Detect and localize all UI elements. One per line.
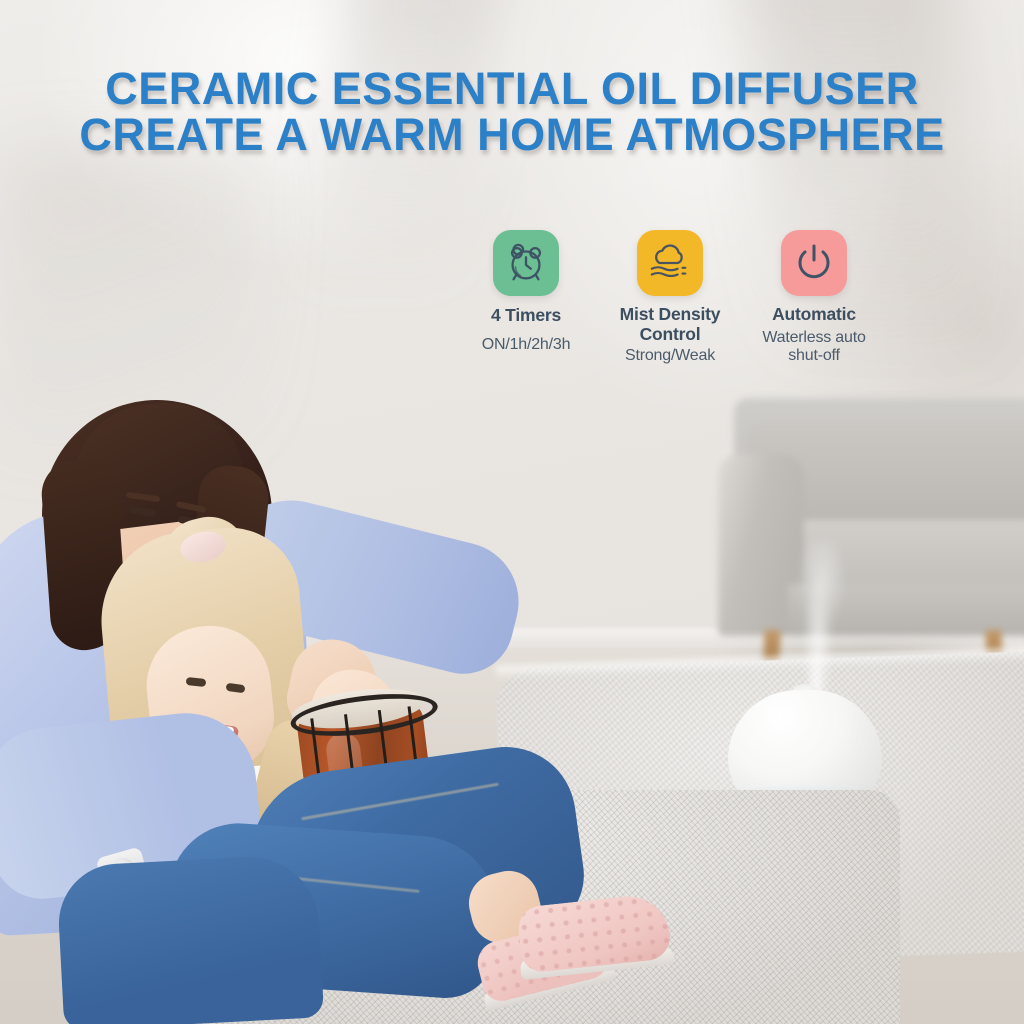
feature-automatic-shutoff: Automatic Waterless auto shut-off [748, 230, 880, 366]
feature-mist-density: Mist Density Control Strong/Weak [604, 230, 736, 366]
feature-subtitle: Waterless auto shut-off [748, 329, 880, 366]
feature-subtitle: Strong/Weak [625, 347, 715, 366]
feature-subtitle: ON/1h/2h/3h [482, 336, 571, 355]
pink-slip-on-shoe [516, 892, 674, 987]
alarm-clock-icon [493, 230, 559, 296]
headline-line-2: CREATE A WARM HOME ATMOSPHERE [0, 112, 1024, 158]
power-button-icon [781, 230, 847, 296]
feature-title: 4 Timers [491, 306, 561, 326]
headline-line-1: CERAMIC ESSENTIAL OIL DIFFUSER [0, 66, 1024, 112]
feature-title: Automatic [772, 305, 856, 325]
mist-cloud-icon [637, 230, 703, 296]
feature-list: 4 Timers ON/1h/2h/3h Mist Density Contro… [460, 230, 880, 390]
headline: CERAMIC ESSENTIAL OIL DIFFUSER CREATE A … [0, 66, 1024, 158]
gray-sofa [718, 398, 1024, 660]
blue-jeans-hip [56, 853, 324, 1024]
feature-timers: 4 Timers ON/1h/2h/3h [460, 230, 592, 354]
feature-title: Mist Density Control [604, 305, 736, 344]
product-marketing-image: CERAMIC ESSENTIAL OIL DIFFUSER CREATE A … [0, 0, 1024, 1024]
